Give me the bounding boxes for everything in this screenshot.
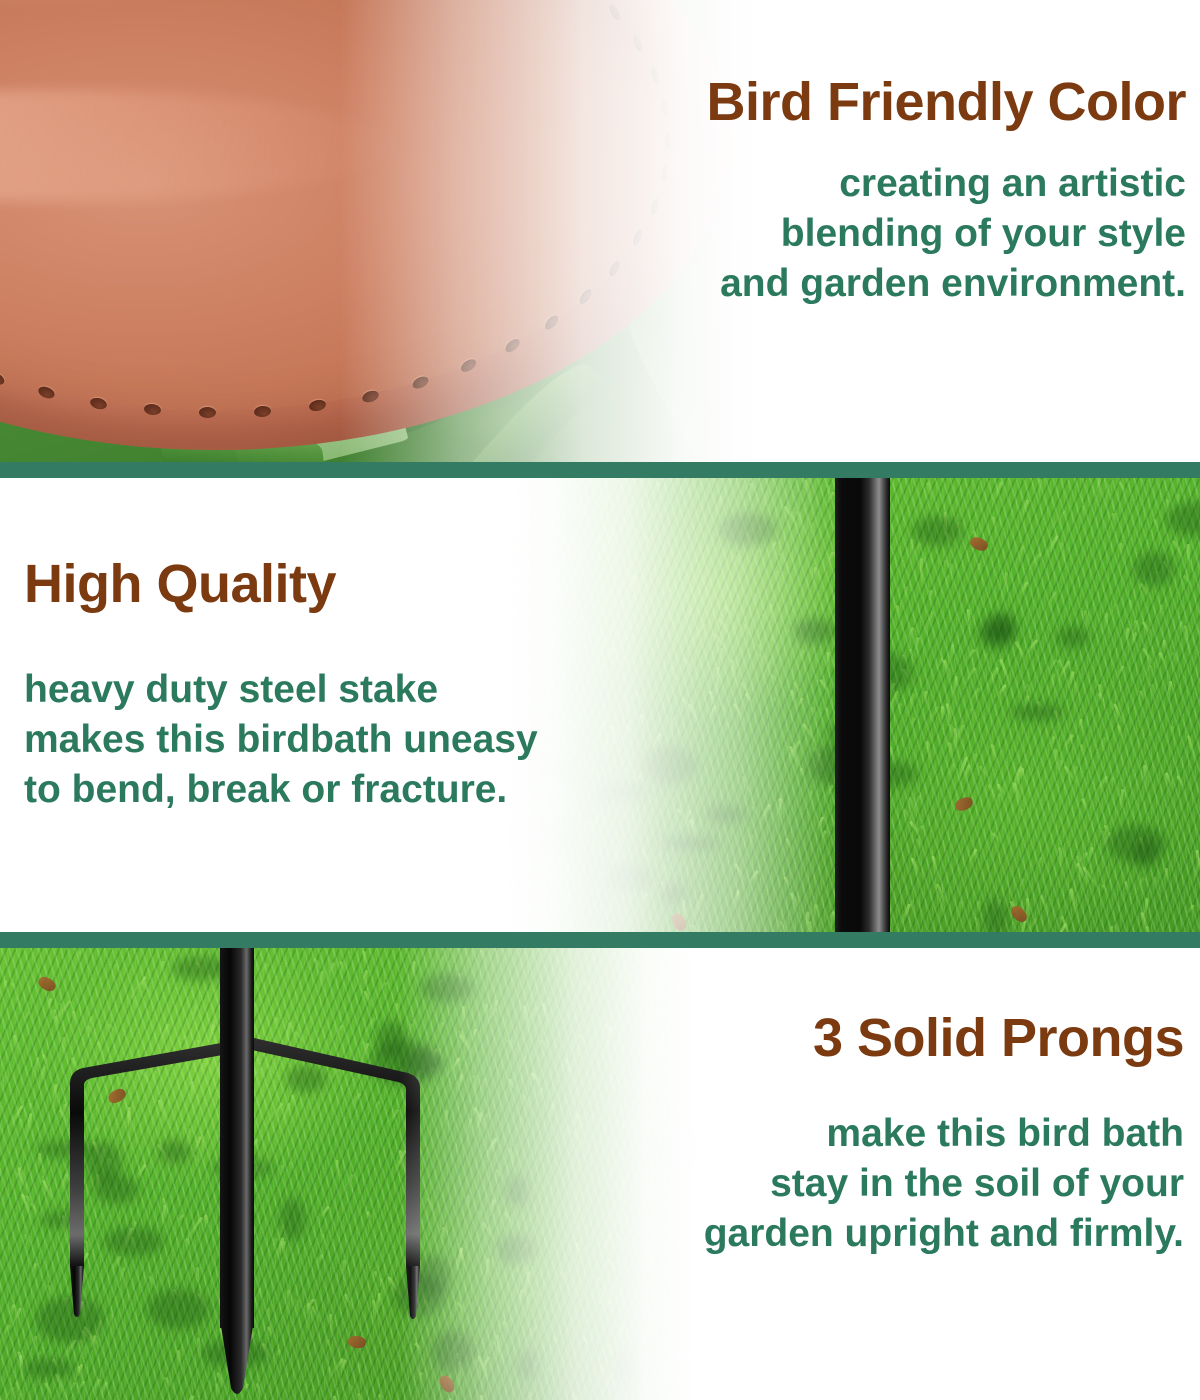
panel-3-body-line-1: make this bird bath [610, 1109, 1184, 1159]
feature-panel-high-quality: High Quality heavy duty steel stake make… [0, 478, 1200, 932]
panel-3-text-block: 3 Solid Prongs make this bird bath stay … [610, 1010, 1190, 1258]
steel-stake-pole [835, 478, 890, 932]
panel-3-body: make this bird bath stay in the soil of … [610, 1109, 1184, 1259]
panel-1-heading: Bird Friendly Color [610, 74, 1186, 131]
panel-divider-1 [0, 462, 1200, 478]
panel-1-body-line-2: blending of your style [610, 209, 1186, 259]
panel-3-body-line-3: garden upright and firmly. [610, 1209, 1184, 1259]
feature-panel-bird-friendly-color: Bird Friendly Color creating an artistic… [0, 0, 1200, 462]
panel-1-body-line-3: and garden environment. [610, 259, 1186, 309]
center-pole [220, 948, 254, 1328]
three-prong-stake-photo [0, 948, 700, 1400]
panel-3-body-line-2: stay in the soil of your [610, 1159, 1184, 1209]
product-feature-infographic: Bird Friendly Color creating an artistic… [0, 0, 1200, 1400]
left-prong-arm [70, 1041, 234, 1266]
right-prong-arm [252, 1038, 420, 1266]
center-pole-tip [220, 1320, 254, 1394]
panel-2-heading: High Quality [24, 556, 644, 613]
panel-1-text-block: Bird Friendly Color creating an artistic… [610, 74, 1190, 308]
panel-2-body: heavy duty steel stake makes this birdba… [24, 665, 644, 815]
panel-divider-2 [0, 932, 1200, 948]
panel-2-text-block: High Quality heavy duty steel stake make… [24, 556, 644, 814]
panel-1-body: creating an artistic blending of your st… [610, 159, 1186, 309]
panel-2-body-line-2: makes this birdbath uneasy [24, 715, 644, 765]
panel-3-heading: 3 Solid Prongs [610, 1010, 1184, 1067]
panel-2-body-line-3: to bend, break or fracture. [24, 765, 644, 815]
left-prong-tip [70, 1266, 84, 1317]
panel-1-body-line-1: creating an artistic [610, 159, 1186, 209]
feature-panel-3-solid-prongs: 3 Solid Prongs make this bird bath stay … [0, 948, 1200, 1400]
panel-2-body-line-1: heavy duty steel stake [24, 665, 644, 715]
